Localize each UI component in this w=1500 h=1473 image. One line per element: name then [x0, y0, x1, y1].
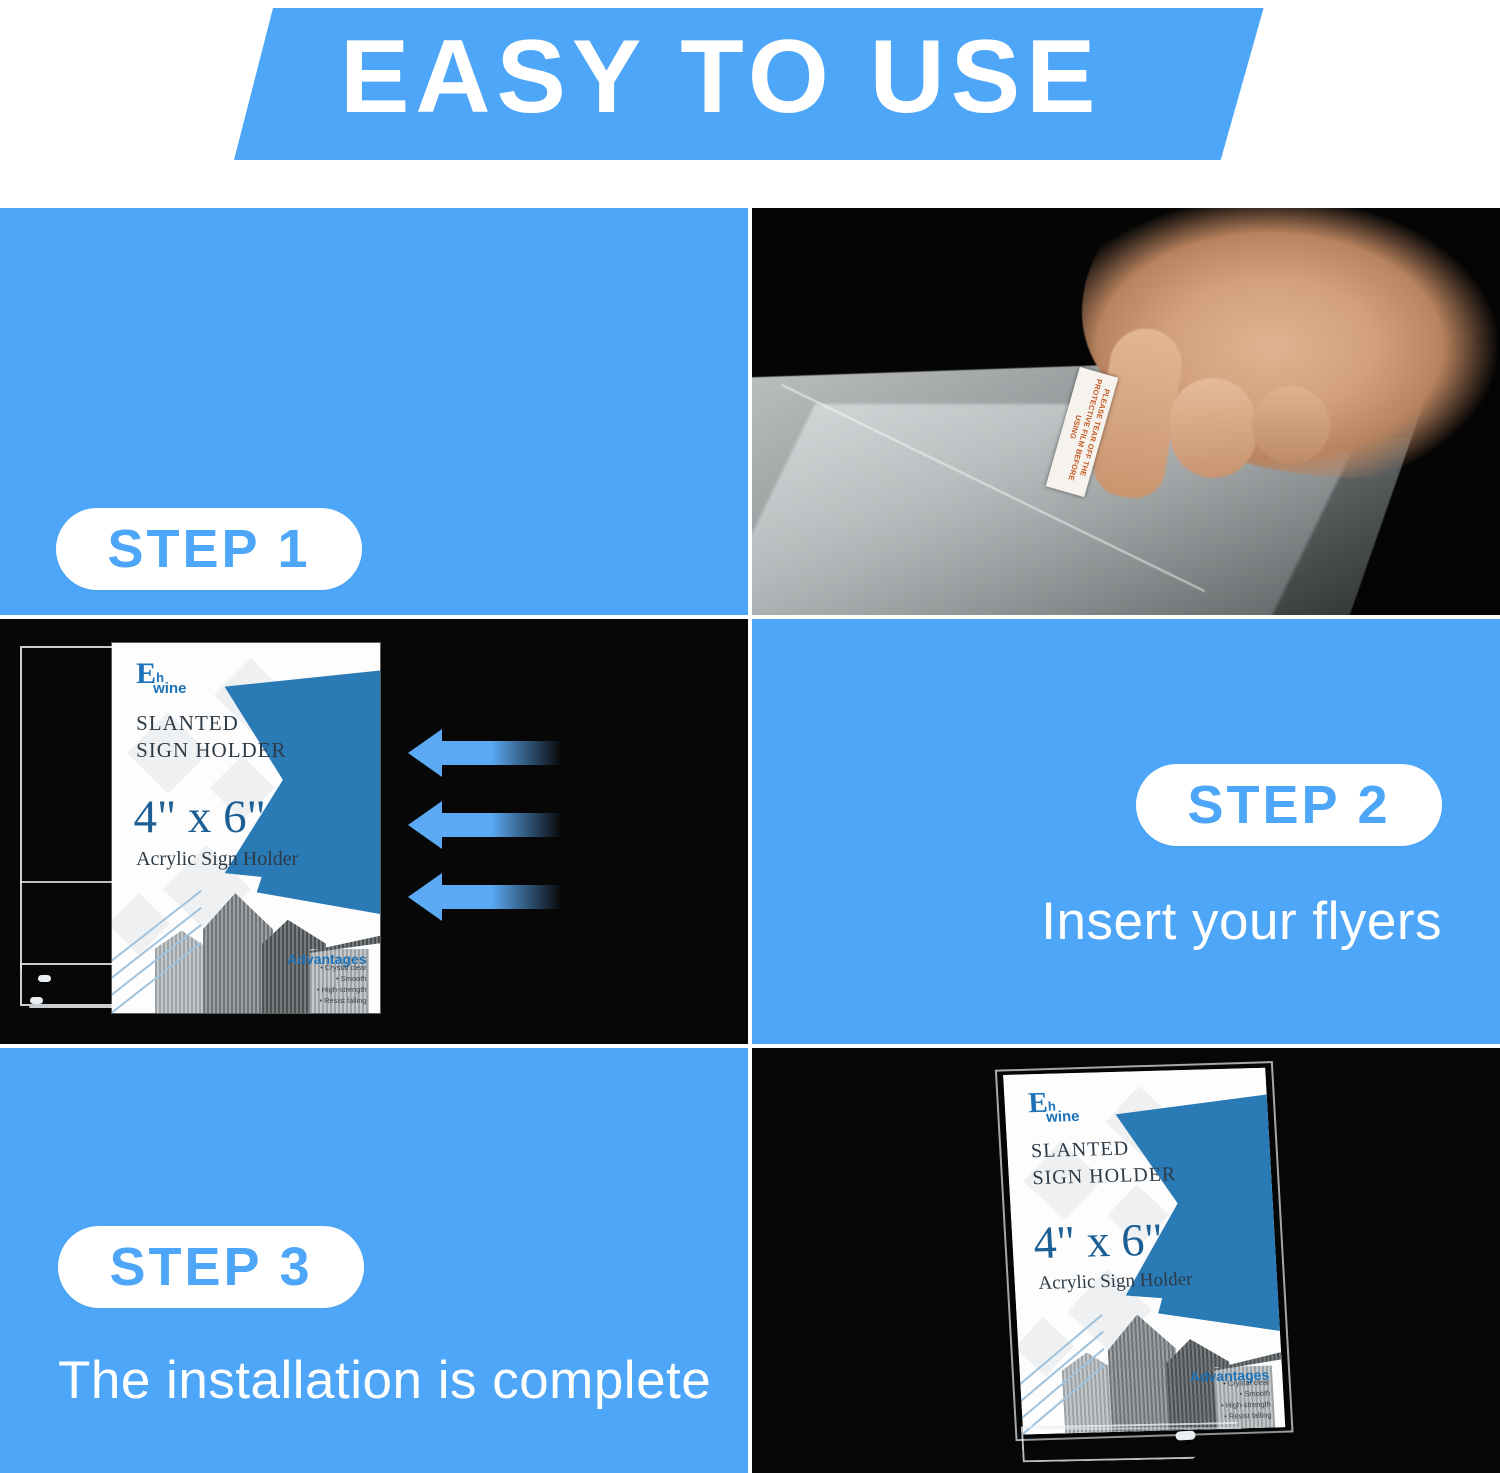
insert-flyer-illustration: Eh wine SLANTED SIGN HOLDER 4" x 6" Acry…: [0, 619, 748, 1044]
completed-sign-holder-photo: Eh wine SLANTED SIGN HOLDER 4" x 6" Acry…: [752, 1048, 1500, 1473]
assembled-sign-holder: Eh wine SLANTED SIGN HOLDER 4" x 6" Acry…: [1003, 1062, 1324, 1468]
page-title: EASY TO USE: [340, 22, 1200, 132]
logo-name: wine: [1046, 1108, 1080, 1126]
flyer-artwork: Eh wine SLANTED SIGN HOLDER 4" x 6" Acry…: [1003, 1068, 1285, 1435]
step-3-badge-label: STEP 3: [109, 1240, 312, 1294]
advantage-item: • Resist falling: [317, 995, 367, 1006]
arrow-head-icon: [408, 801, 442, 849]
step-3-text-panel: STEP 3 The installation is complete: [0, 1048, 748, 1473]
flyer-size: 4" x 6": [133, 791, 265, 843]
logo-name: wine: [153, 680, 186, 697]
flyer-title-line-2: SIGN HOLDER: [1032, 1162, 1177, 1191]
advantage-item: • High-strength: [317, 984, 367, 995]
arrow-head-icon: [408, 729, 442, 777]
step-3-photo-panel: Eh wine SLANTED SIGN HOLDER 4" x 6" Acry…: [752, 1048, 1500, 1473]
step-1-badge-label: STEP 1: [107, 522, 310, 576]
advantages-list: • Crystal clear • Smooth • High-strength…: [1220, 1376, 1272, 1421]
base-hole: [1175, 1431, 1195, 1441]
flyer-artwork: Eh wine SLANTED SIGN HOLDER 4" x 6" Acry…: [112, 643, 380, 1013]
base-hole-2: [30, 997, 43, 1004]
arrow-head-icon: [408, 873, 442, 921]
flyer-title-line-2: SIGN HOLDER: [136, 737, 286, 763]
step-1-text-panel: STEP 1 Peel off the protective film: [0, 208, 748, 615]
flyer-title-line-1: SLANTED: [136, 710, 239, 736]
advantage-item: • Crystal clear: [317, 962, 367, 973]
base-hole-1: [38, 975, 51, 982]
advantage-item: • Smooth: [317, 973, 367, 984]
advantages-list: • Crystal clear • Smooth • High-strength…: [317, 962, 367, 1006]
header-banner-area: EASY TO USE: [0, 0, 1500, 208]
flyer-title-line-1: SLANTED: [1030, 1136, 1130, 1164]
advantage-item: • Resist falling: [1221, 1409, 1271, 1421]
step-3-badge: STEP 3: [58, 1226, 364, 1308]
flyer-size: 4" x 6": [1032, 1215, 1164, 1269]
step-1-photo-panel: PLEASE TEAR OFF THE PROTECTIVE FILM BEFO…: [752, 208, 1500, 615]
step-1-badge: STEP 1: [56, 508, 362, 590]
step-2-text-panel: STEP 2 Insert your flyers: [752, 619, 1500, 1044]
step-2-badge-label: STEP 2: [1187, 778, 1390, 832]
step-2-caption: Insert your flyers: [1041, 891, 1442, 953]
step-2-photo-panel: Eh wine SLANTED SIGN HOLDER 4" x 6" Acry…: [0, 619, 748, 1044]
steps-grid: STEP 1 Peel off the protective film PLEA…: [0, 208, 1500, 1473]
flyer-subtitle: Acrylic Sign Holder: [136, 847, 298, 871]
peel-protective-film-photo: PLEASE TEAR OFF THE PROTECTIVE FILM BEFO…: [752, 208, 1500, 615]
ring-finger: [1252, 386, 1330, 464]
step-2-badge: STEP 2: [1136, 764, 1442, 846]
brand-logo: Eh wine: [1028, 1089, 1080, 1126]
flyer-subtitle: Acrylic Sign Holder: [1038, 1268, 1193, 1295]
step-3-caption: The installation is complete: [58, 1350, 711, 1412]
brand-logo: Eh wine: [136, 660, 186, 697]
